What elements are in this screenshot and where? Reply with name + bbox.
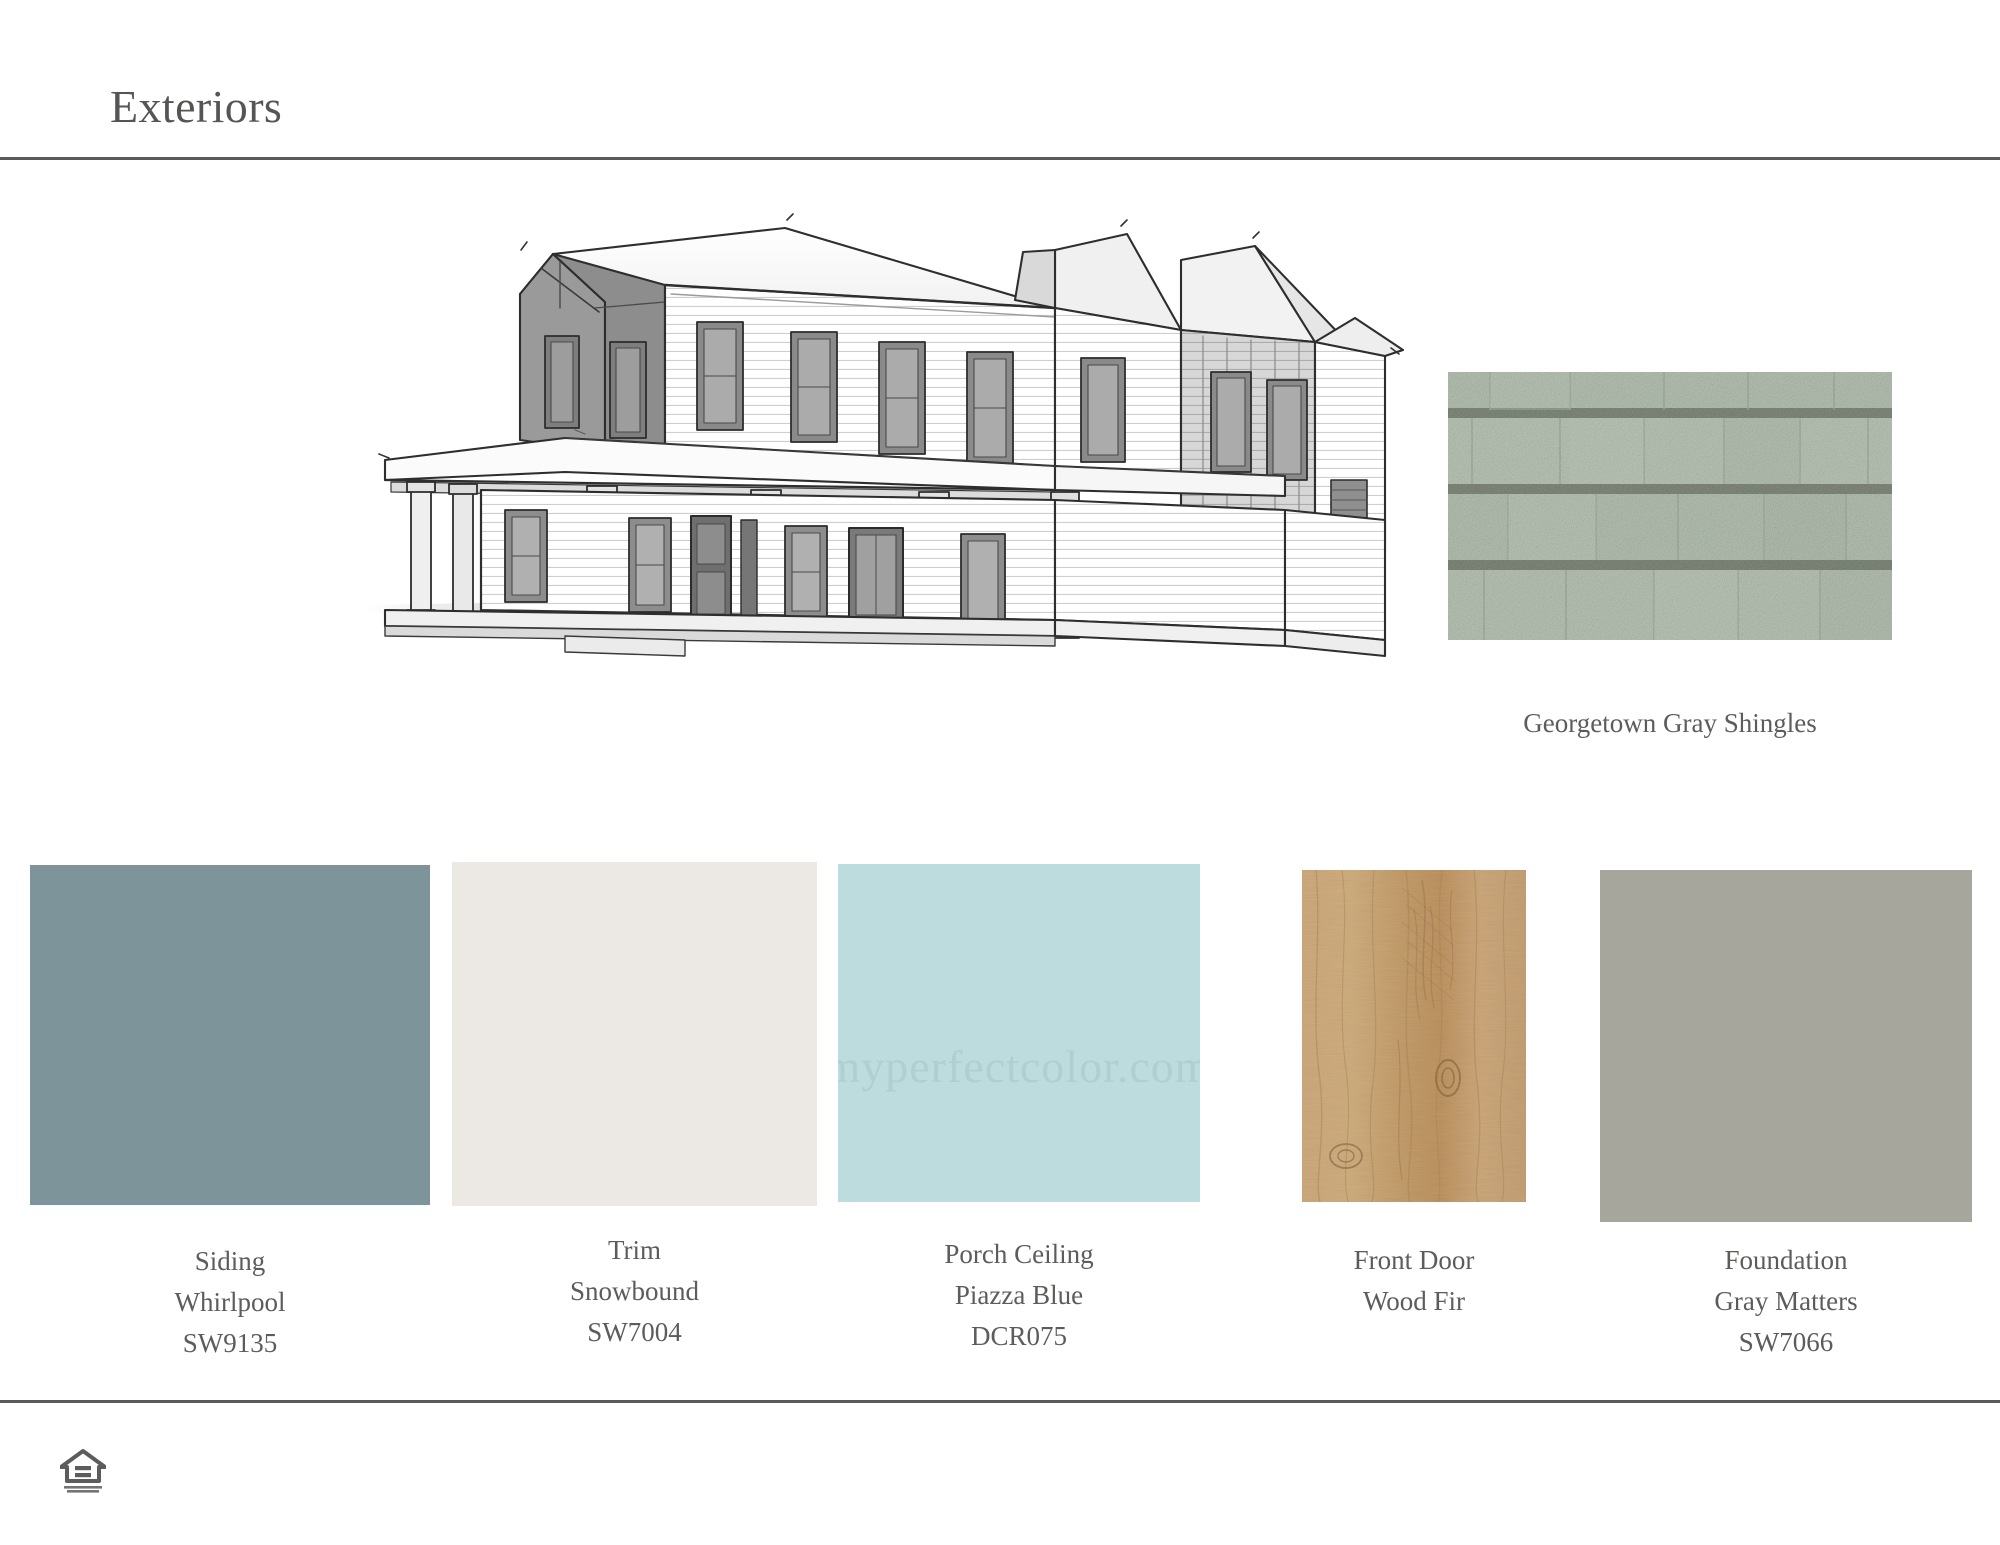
swatch-role-foundation: Foundation: [1600, 1240, 1972, 1281]
swatch-caption-siding: Siding Whirlpool SW9135: [30, 1241, 430, 1364]
swatch-name-foundation: Gray Matters: [1600, 1281, 1972, 1322]
swatch-code-trim: SW7004: [452, 1312, 817, 1353]
swatch-caption-foundation: Foundation Gray Matters SW7066: [1600, 1240, 1972, 1363]
swatch-chip-foundation[interactable]: [1600, 870, 1972, 1222]
exteriors-board: Exteriors: [0, 0, 2000, 1545]
shingle-caption: Georgetown Gray Shingles: [1448, 702, 1892, 744]
swatch-siding[interactable]: Siding Whirlpool SW9135: [30, 865, 430, 1364]
swatch-caption-porch-ceiling: Porch Ceiling Piazza Blue DCR075: [838, 1234, 1200, 1357]
swatch-porch-ceiling[interactable]: myperfectcolor.com Porch Ceiling Piazza …: [838, 864, 1200, 1357]
equal-housing-opportunity-icon: [60, 1448, 106, 1496]
footer-divider: [0, 1400, 2000, 1403]
shingle-caption-line1: Georgetown: [1523, 708, 1656, 738]
swatch-chip-trim[interactable]: [452, 862, 817, 1206]
swatch-foundation[interactable]: Foundation Gray Matters SW7066: [1600, 870, 1972, 1363]
swatch-trim[interactable]: Trim Snowbound SW7004: [452, 862, 817, 1353]
swatch-chip-porch-ceiling[interactable]: myperfectcolor.com: [838, 864, 1200, 1202]
swatch-name-siding: Whirlpool: [30, 1282, 430, 1323]
swatch-name-front-door: Wood Fir: [1302, 1281, 1526, 1322]
header-divider: [0, 157, 2000, 160]
swatch-chip-front-door[interactable]: [1302, 870, 1526, 1202]
swatch-code-siding: SW9135: [30, 1323, 430, 1364]
swatch-role-porch-ceiling: Porch Ceiling: [838, 1234, 1200, 1275]
shingle-caption-line2: Gray Shingles: [1663, 708, 1817, 738]
swatch-name-trim: Snowbound: [452, 1271, 817, 1312]
swatch-role-trim: Trim: [452, 1230, 817, 1271]
swatch-name-porch-ceiling: Piazza Blue: [838, 1275, 1200, 1316]
swatch-role-siding: Siding: [30, 1241, 430, 1282]
swatch-caption-trim: Trim Snowbound SW7004: [452, 1230, 817, 1353]
swatch-caption-front-door: Front Door Wood Fir: [1302, 1240, 1526, 1322]
swatch-code-porch-ceiling: DCR075: [838, 1316, 1200, 1357]
swatch-code-foundation: SW7066: [1600, 1322, 1972, 1363]
shingle-sample-image: [1448, 372, 1892, 640]
house-elevation-sketch: [355, 190, 1510, 830]
swatch-role-front-door: Front Door: [1302, 1240, 1526, 1281]
swatch-front-door[interactable]: Front Door Wood Fir: [1302, 870, 1526, 1322]
swatch-chip-siding[interactable]: [30, 865, 430, 1205]
page-title: Exteriors: [110, 80, 282, 133]
watermark-text: myperfectcolor.com: [838, 1040, 1200, 1093]
